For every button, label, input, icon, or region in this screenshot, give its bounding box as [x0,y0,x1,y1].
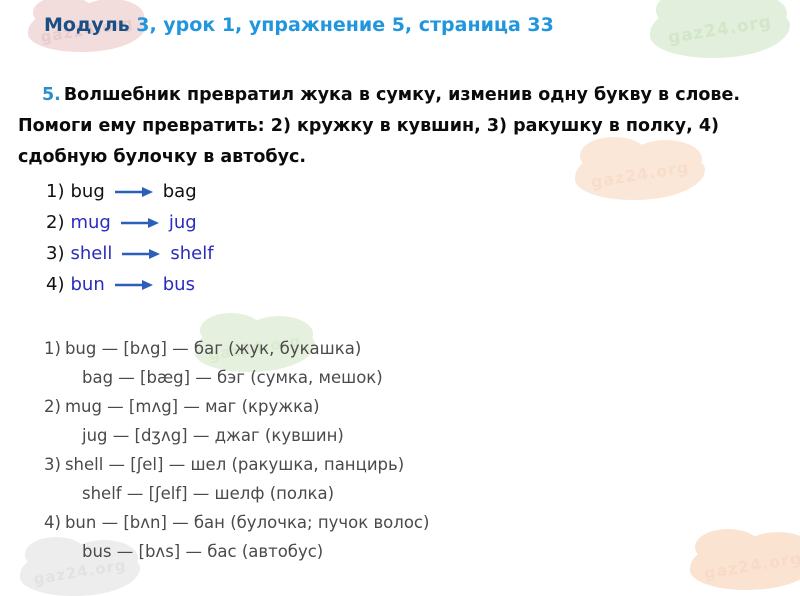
transcription-index: 2) [44,397,61,416]
watermark-label: gaz24.org [689,546,800,584]
task-text: Волшебник превратил жука в сумку, измени… [18,85,740,167]
watermark-cloud-top-right: gaz24.org [650,2,790,58]
transcription-text: jug — [dʒʌg] — джаг (кувшин) [82,426,344,445]
transcription-row: 2)mug — [mʌg] — маг (кружка) [44,392,429,421]
task-number: 5. [42,85,61,105]
transformation-row: 3)shellshelf [46,238,214,269]
transcription-text: mug — [mʌg] — маг (кружка) [65,397,320,416]
transcription-row: bag — [bæg] — бэг (сумка, мешок) [44,363,429,392]
transformation-source-word: bug [70,181,104,202]
transformation-list: 1)bugbag2)mugjug3)shellshelf4)bunbus [46,176,214,300]
transformation-target-word: bag [163,181,197,202]
transcription-text: bus — [bʌs] — бас (автобус) [82,542,323,561]
transformation-index: 1) [46,181,64,202]
transformation-index: 3) [46,243,64,264]
transcription-row: 3)shell — [ʃel] — шел (ракушка, панцирь) [44,450,429,479]
transformation-index: 4) [46,274,64,295]
transcription-index: 4) [44,513,61,532]
page-title-module: Модуль [44,14,130,36]
transformation-row: 2)mugjug [46,207,214,238]
transcription-row: 1)bug — [bʌg] — баг (жук, букашка) [44,334,429,363]
page-title: Модуль 3, урок 1, упражнение 5, страница… [44,14,554,36]
transcription-list: 1)bug — [bʌg] — баг (жук, букашка)bag — … [44,334,429,566]
arrow-right-icon [121,247,161,261]
cloud-shape [690,540,800,590]
transformation-source-word: shell [70,243,112,264]
transcription-row: shelf — [ʃelf] — шелф (полка) [44,479,429,508]
transformation-index: 2) [46,212,64,233]
page-title-rest: 3, урок 1, упражнение 5, страница 33 [130,14,554,36]
transcription-row: 4)bun — [bʌn] — бан (булочка; пучок воло… [44,508,429,537]
transformation-row: 1)bugbag [46,176,214,207]
transcription-text: shelf — [ʃelf] — шелф (полка) [82,484,334,503]
transformation-target-word: shelf [170,243,213,264]
transcription-row: bus — [bʌs] — бас (автобус) [44,537,429,566]
arrow-right-icon [114,278,154,292]
transformation-target-word: jug [169,212,197,233]
transcription-text: bun — [bʌn] — бан (булочка; пучок волос) [65,513,429,532]
transcription-text: bug — [bʌg] — баг (жук, букашка) [65,339,361,358]
transcription-index: 3) [44,455,61,474]
transcription-text: bag — [bæg] — бэг (сумка, мешок) [82,368,383,387]
cloud-shape [650,2,790,58]
transformation-source-word: mug [70,212,110,233]
arrow-right-icon [120,216,160,230]
transformation-source-word: bun [70,274,104,295]
arrow-right-icon [114,185,154,199]
transcription-text: shell — [ʃel] — шел (ракушка, панцирь) [65,455,404,474]
transcription-row: jug — [dʒʌg] — джаг (кувшин) [44,421,429,450]
task-statement: 5.Волшебник превратил жука в сумку, изме… [18,80,782,173]
watermark-cloud-bottom-right: gaz24.org [690,540,800,590]
transformation-target-word: bus [163,274,195,295]
transcription-index: 1) [44,339,61,358]
transformation-row: 4)bunbus [46,269,214,300]
watermark-label: gaz24.org [649,9,790,51]
